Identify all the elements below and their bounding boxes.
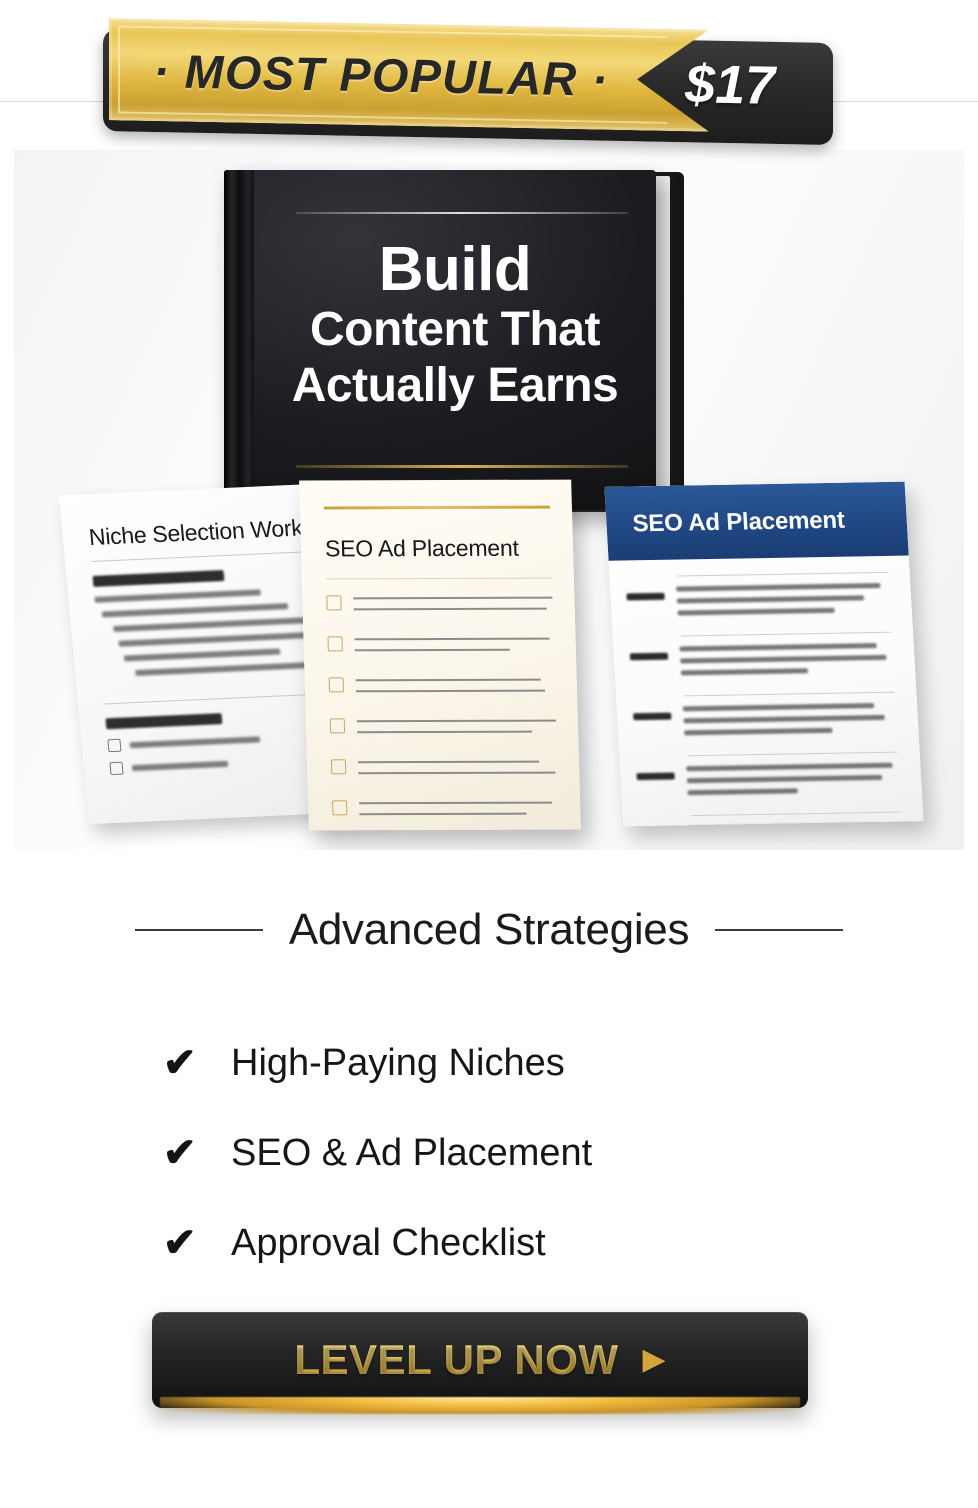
cta-label: LEVEL UP NOW — [294, 1336, 618, 1384]
worksheet-body-line — [113, 617, 310, 632]
worksheet-title: SEO Ad Placement — [325, 535, 552, 563]
checkbox-icon — [109, 762, 123, 776]
worksheet-divider — [326, 578, 552, 580]
level-up-now-button[interactable]: LEVEL UP NOW ▶ — [152, 1312, 808, 1408]
price-tag: $17 — [655, 53, 805, 118]
worksheet-task-lines — [353, 593, 553, 620]
checkbox-icon — [326, 595, 341, 610]
worksheet-row — [633, 703, 897, 744]
check-icon: ✔ — [163, 1133, 205, 1173]
worksheet-row-marker — [626, 593, 664, 601]
pricing-offer-card: · MOST POPULAR · $17 Build Content That … — [0, 0, 978, 1508]
checkbox-icon — [107, 739, 121, 753]
worksheet-subheading — [105, 713, 222, 729]
heading-rule-left — [135, 929, 263, 931]
worksheet-task-lines — [359, 798, 559, 825]
section-heading-label: Advanced Strategies — [289, 905, 689, 955]
worksheet-subheading — [92, 570, 224, 587]
book-title-line-2: Content That — [272, 302, 638, 358]
checkbox-icon — [331, 759, 346, 774]
worksheet-body-line — [118, 632, 310, 647]
badge-ribbon: · MOST POPULAR · — [109, 18, 709, 132]
worksheet-body-line — [102, 603, 289, 617]
worksheet-divider — [684, 692, 894, 697]
worksheet-body-line — [135, 662, 312, 676]
worksheet-row-lines — [679, 643, 893, 683]
worksheet-gold-rule — [324, 506, 550, 510]
worksheet-task-row — [330, 716, 557, 743]
book-title: Build Content That Actually Earns — [272, 238, 638, 414]
worksheet-task-row — [326, 593, 553, 620]
check-icon: ✔ — [163, 1223, 205, 1263]
worksheet-body-line — [94, 589, 261, 603]
worksheet-task-row — [329, 675, 556, 702]
worksheet-row — [639, 822, 903, 826]
worksheet-row — [626, 583, 890, 624]
worksheet-row — [629, 643, 893, 684]
checkbox-icon — [332, 800, 347, 815]
checkbox-icon — [330, 718, 345, 733]
worksheet-task-lines — [357, 716, 557, 743]
worksheet-row-lines — [683, 703, 897, 743]
cta-glow — [160, 1397, 800, 1414]
worksheet-row-lines — [689, 822, 903, 826]
arrow-right-icon: ▶ — [643, 1345, 666, 1375]
worksheet-divider — [681, 632, 891, 637]
book-top-rule — [296, 212, 628, 214]
worksheet-task-row — [331, 757, 558, 784]
worksheet-divider — [688, 752, 898, 757]
worksheet-body — [609, 556, 924, 827]
worksheet-body-line — [124, 648, 281, 661]
worksheet-row — [636, 763, 900, 804]
book-title-line-1: Build — [272, 238, 638, 302]
feature-item-approval-checklist: ✔ Approval Checklist — [163, 1198, 783, 1288]
most-popular-badge: · MOST POPULAR · $17 — [103, 24, 833, 142]
book-front-cover: Build Content That Actually Earns — [224, 170, 656, 510]
worksheet-divider — [691, 812, 901, 817]
worksheet-row-lines — [686, 763, 900, 803]
feature-label: SEO & Ad Placement — [231, 1132, 592, 1175]
ebook-mockup: Build Content That Actually Earns — [214, 170, 684, 515]
worksheet-row-marker — [630, 653, 668, 661]
book-title-line-3: Actually Earns — [272, 358, 638, 414]
worksheet-seo-ad-placement-guide: SEO Ad Placement — [604, 482, 923, 827]
worksheet-row-marker — [633, 713, 671, 721]
heading-rule-right — [715, 929, 843, 931]
worksheet-seo-ad-placement-checklist: SEO Ad Placement — [299, 480, 581, 831]
worksheet-header-band: SEO Ad Placement — [604, 482, 908, 561]
checkbox-icon — [327, 636, 342, 651]
book-spine — [224, 170, 254, 510]
checkbox-icon — [329, 677, 344, 692]
worksheet-task-lines — [354, 634, 554, 661]
feature-label: High-Paying Niches — [231, 1042, 565, 1085]
feature-label: Approval Checklist — [231, 1222, 546, 1265]
feature-item-seo-ad-placement: ✔ SEO & Ad Placement — [163, 1108, 783, 1198]
worksheet-divider — [677, 572, 887, 577]
worksheet-body-line — [130, 736, 261, 748]
worksheet-body-line — [132, 760, 229, 770]
worksheet-row-marker — [636, 772, 674, 780]
worksheet-task-row — [327, 634, 554, 661]
worksheet-row-lines — [676, 583, 890, 623]
worksheet-task-lines — [358, 757, 558, 784]
check-icon: ✔ — [163, 1043, 205, 1083]
section-heading: Advanced Strategies — [0, 905, 978, 955]
worksheet-title: SEO Ad Placement — [632, 506, 888, 538]
worksheet-task-lines — [356, 675, 556, 702]
product-hero-image: Build Content That Actually Earns Niche … — [14, 150, 964, 850]
worksheet-task-row — [332, 798, 559, 825]
feature-item-high-paying-niches: ✔ High-Paying Niches — [163, 1018, 783, 1108]
book-bottom-rule — [296, 465, 628, 468]
badge-label: · MOST POPULAR · — [109, 42, 639, 107]
feature-list: ✔ High-Paying Niches ✔ SEO & Ad Placemen… — [163, 1018, 783, 1288]
